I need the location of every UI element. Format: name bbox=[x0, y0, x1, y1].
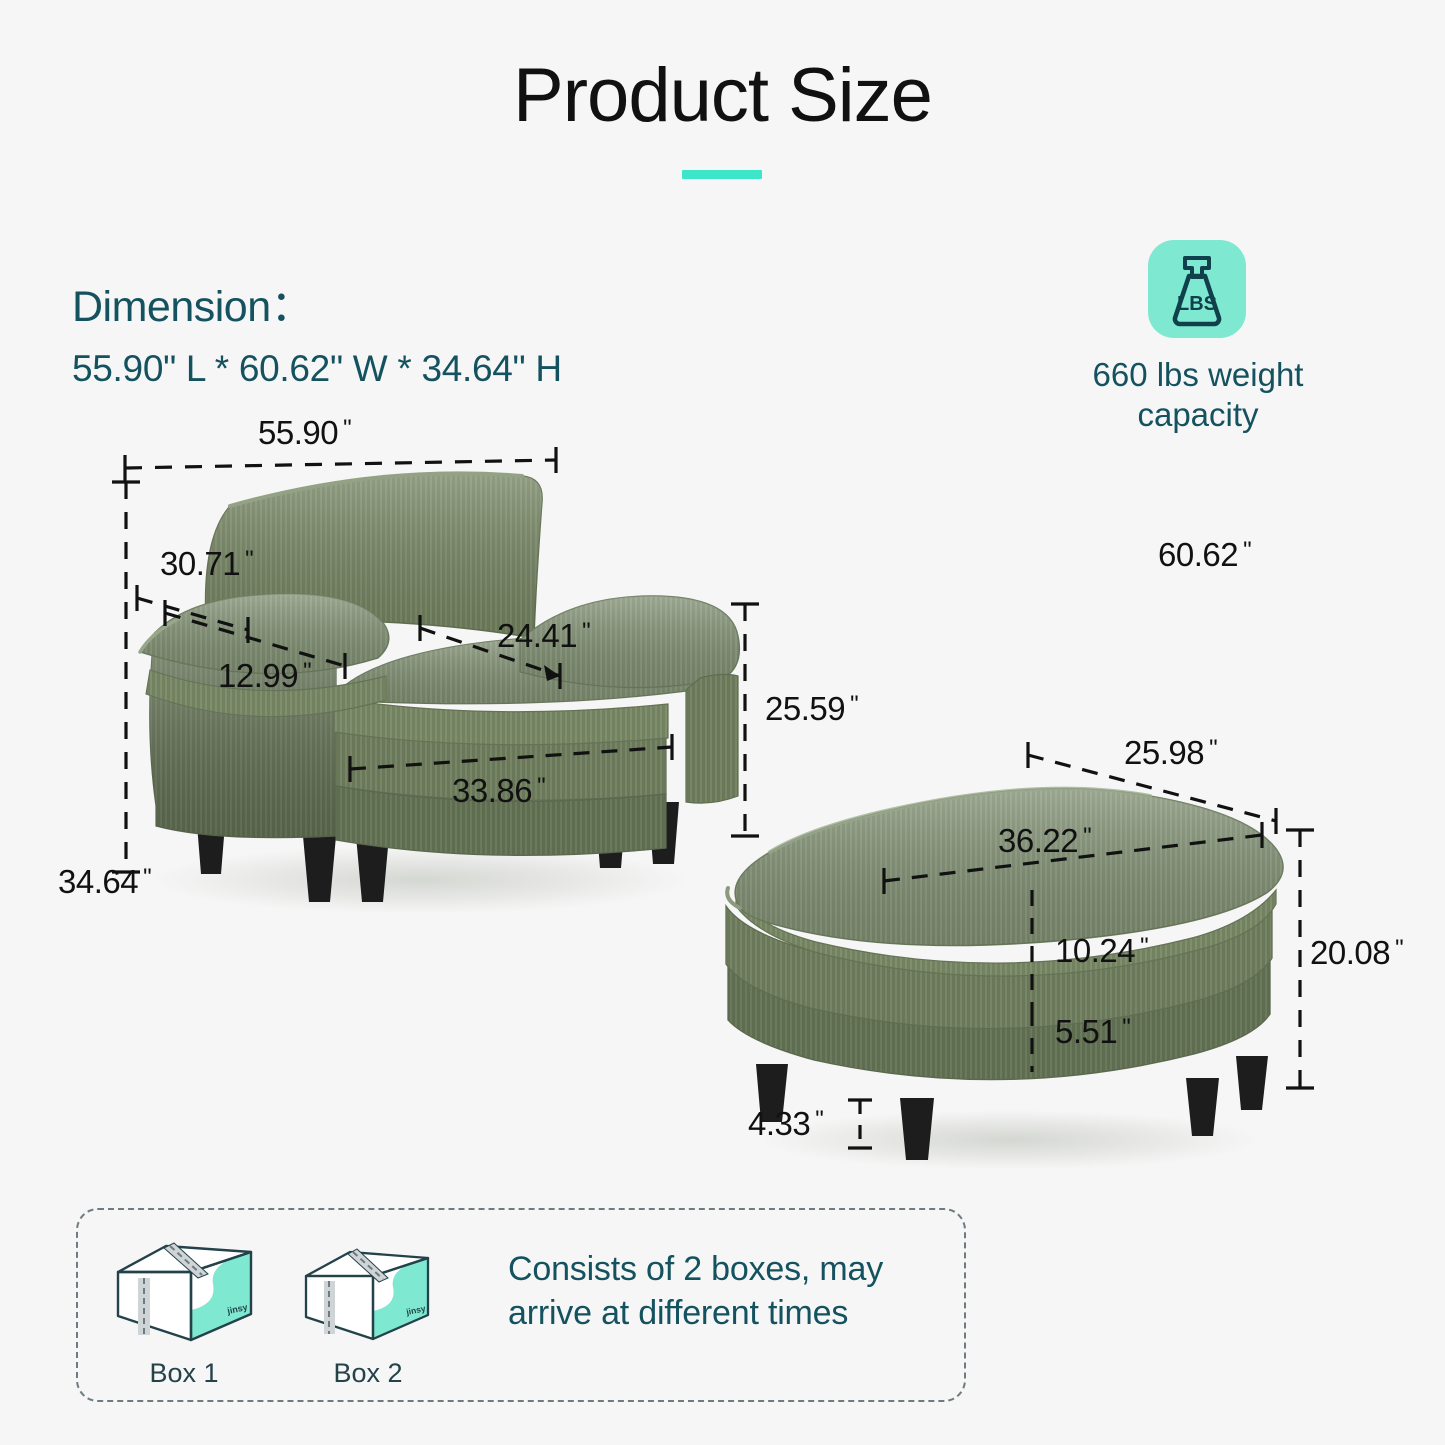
dim-label-ottoman-total-height: 20.08" bbox=[1310, 934, 1403, 972]
dim-label-chair-total-height: 34.64" bbox=[58, 863, 151, 901]
dim-label-chair-seat-width: 33.86" bbox=[452, 772, 545, 810]
dim-label-chair-arm-width: 12.99" bbox=[218, 657, 311, 695]
dim-label-ottoman-width: 36.22" bbox=[998, 822, 1091, 860]
dim-label-chair-arm-height: 25.59" bbox=[765, 690, 858, 728]
dim-label-chair-seat-depth: 24.41" bbox=[497, 617, 590, 655]
dim-label-chair-width: 55.90" bbox=[258, 414, 351, 452]
dim-label-overall-width: 60.62" bbox=[1158, 536, 1251, 574]
dim-label-chair-back-height: 30.71" bbox=[160, 545, 253, 583]
box-2-icon: jinsy bbox=[297, 1236, 437, 1358]
box-1-label: Box 1 bbox=[104, 1358, 264, 1389]
dim-label-ottoman-leg-height: 4.33" bbox=[748, 1105, 823, 1143]
box-1-icon: jinsy bbox=[108, 1228, 258, 1358]
packaging-note: Consists of 2 boxes, may arrive at diffe… bbox=[508, 1248, 938, 1335]
dim-label-ottoman-base: 5.51" bbox=[1055, 1013, 1130, 1051]
dim-label-ottoman-cushion: 10.24" bbox=[1055, 932, 1148, 970]
box-2-label: Box 2 bbox=[288, 1358, 448, 1389]
dim-label-ottoman-depth: 25.98" bbox=[1124, 734, 1217, 772]
